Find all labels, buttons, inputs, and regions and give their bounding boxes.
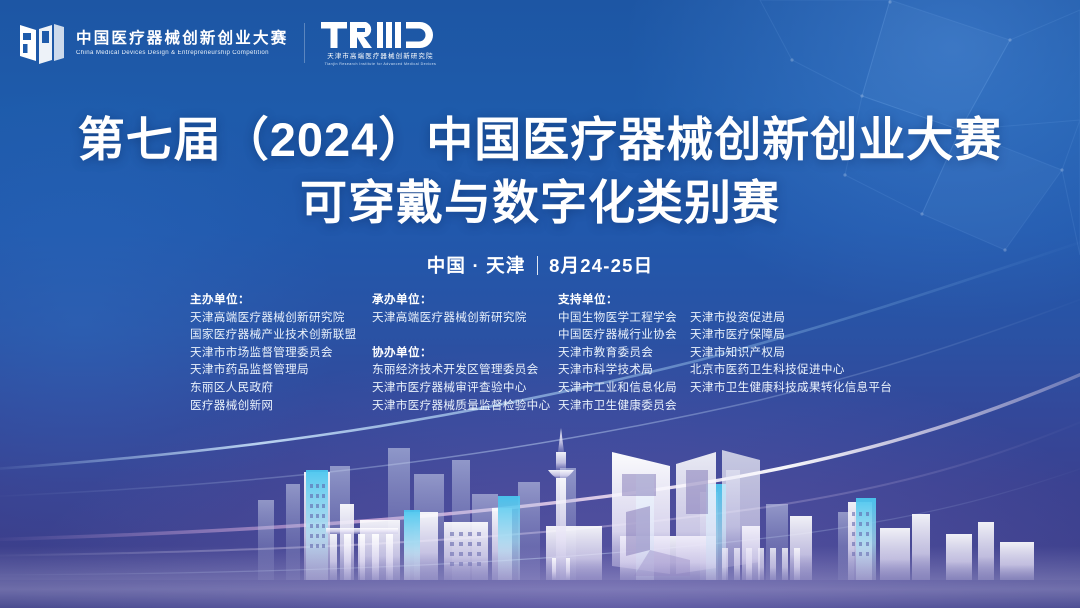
org-item: 东丽经济技术开发区管理委员会 <box>372 361 558 379</box>
title-block: 第七届（2024）中国医疗器械创新创业大赛 可穿戴与数字化类别赛 中国 · 天津… <box>0 113 1080 278</box>
org-heading: 承办单位： <box>372 291 558 309</box>
org-item: 北京市医药卫生科技促进中心 <box>690 361 892 379</box>
org-column-support-b: 天津市投资促进局 天津市医疗保障局 天津市知识产权局 北京市医药卫生科技促进中心… <box>690 291 892 397</box>
org-heading: 主办单位： <box>190 291 372 309</box>
org-column-host: 主办单位： 天津高端医疗器械创新研究院 国家医疗器械产业技术创新联盟 天津市市场… <box>190 291 372 414</box>
open-door-mark-icon <box>18 21 66 65</box>
org-item: 天津高端医疗器械创新研究院 <box>190 309 372 327</box>
org-item: 天津高端医疗器械创新研究院 <box>372 309 558 327</box>
event-meta: 中国 · 天津 8月24-25日 <box>0 252 1080 278</box>
logo-divider <box>304 23 305 63</box>
organizations-block: 主办单位： 天津高端医疗器械创新研究院 国家医疗器械产业技术创新联盟 天津市市场… <box>190 291 920 414</box>
org-item: 中国医疗器械行业协会 <box>558 326 690 344</box>
event-date: 8月24-25日 <box>549 252 653 278</box>
org-column-organizer: 承办单位： 天津高端医疗器械创新研究院 协办单位： 东丽经济技术开发区管理委员会… <box>372 291 558 414</box>
org-item: 天津市投资促进局 <box>690 309 892 327</box>
org-item: 天津市知识产权局 <box>690 344 892 362</box>
city-skyline-silhouette <box>0 408 1080 608</box>
institute-logo-cn: 天津市高端医疗器械创新研究院 <box>327 54 433 61</box>
poster-canvas: 中国医疗器械创新创业大赛 China Medical Devices Desig… <box>0 0 1080 608</box>
org-item: 天津市药品监督管理局 <box>190 361 372 379</box>
org-item: 国家医疗器械产业技术创新联盟 <box>190 326 372 344</box>
trimd-wordmark-icon <box>321 20 439 50</box>
org-heading: 支持单位： <box>558 291 690 309</box>
org-heading: 协办单位： <box>372 344 558 362</box>
event-location: 中国 · 天津 <box>427 252 526 278</box>
org-item: 天津市市场监督管理委员会 <box>190 344 372 362</box>
org-item: 天津市教育委员会 <box>558 344 690 362</box>
org-item: 中国生物医学工程学会 <box>558 309 690 327</box>
institute-logo[interactable]: 天津市高端医疗器械创新研究院 Tianjin Research Institut… <box>321 20 439 67</box>
competition-logo-en: China Medical Devices Design & Entrepren… <box>76 50 293 56</box>
main-title-line-2: 可穿戴与数字化类别赛 <box>0 176 1080 231</box>
org-item: 天津市医疗器械质量监督检验中心 <box>372 397 558 415</box>
competition-logo[interactable]: 中国医疗器械创新创业大赛 China Medical Devices Desig… <box>18 21 288 65</box>
org-item: 天津市卫生健康委员会 <box>558 397 690 415</box>
institute-logo-en: Tianjin Research Institute for Advanced … <box>325 63 437 67</box>
org-item: 医疗器械创新网 <box>190 397 372 415</box>
org-spacer <box>372 326 558 344</box>
org-item: 天津市科学技术局 <box>558 361 690 379</box>
org-item: 天津市工业和信息化局 <box>558 379 690 397</box>
org-item: 天津市医疗保障局 <box>690 326 892 344</box>
org-item: 东丽区人民政府 <box>190 379 372 397</box>
main-title-line-1: 第七届（2024）中国医疗器械创新创业大赛 <box>0 113 1080 168</box>
org-item: 天津市卫生健康科技成果转化信息平台 <box>690 379 892 397</box>
org-item: 天津市医疗器械审评查验中心 <box>372 379 558 397</box>
meta-divider <box>537 256 539 275</box>
logo-bar: 中国医疗器械创新创业大赛 China Medical Devices Desig… <box>18 20 439 67</box>
competition-logo-cn: 中国医疗器械创新创业大赛 <box>76 31 288 47</box>
open-gate-monument <box>612 450 760 576</box>
org-column-support-a: 支持单位： 中国生物医学工程学会 中国医疗器械行业协会 天津市教育委员会 天津市… <box>558 291 690 414</box>
